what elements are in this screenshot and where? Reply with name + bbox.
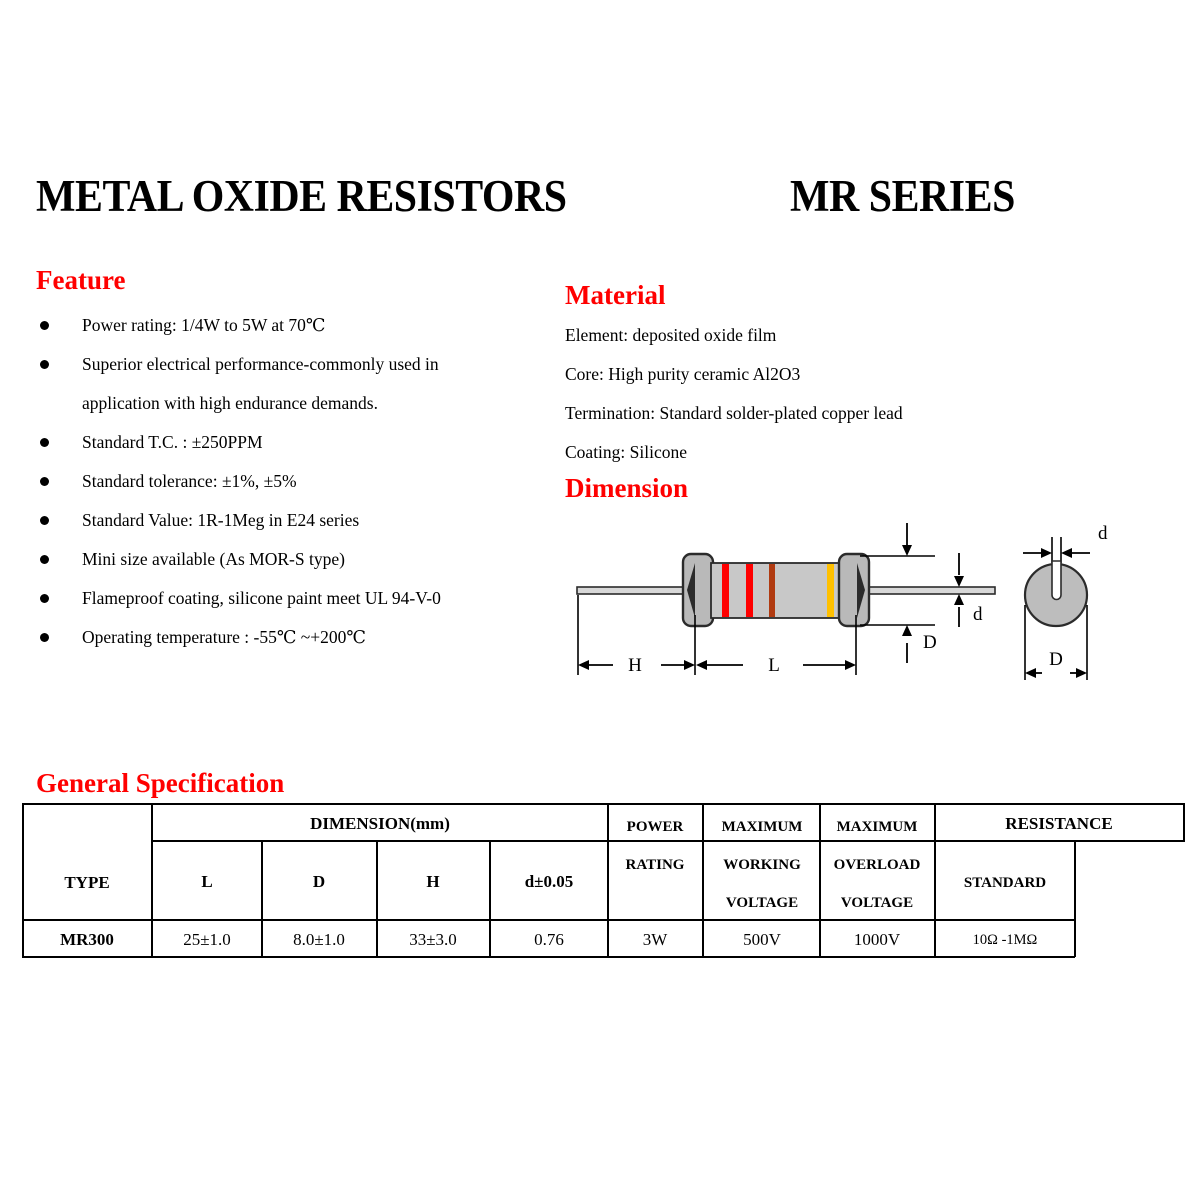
dim-label-l: L (768, 655, 780, 676)
header-type: TYPE (64, 873, 109, 892)
cell-h: 33±3.0 (409, 930, 457, 949)
cs-arrow-D-right (1076, 668, 1087, 678)
material-item: Element: deposited oxide film (565, 316, 1085, 355)
feature-item: Standard Value: 1R-1Meg in E24 series (36, 501, 536, 540)
bullet-icon (40, 555, 49, 564)
header-standard: STANDARD (964, 875, 1046, 891)
color-band-4 (827, 564, 834, 617)
cell-type: MR300 (60, 930, 114, 949)
arrow-d-small-top (954, 576, 964, 587)
color-band-1 (722, 564, 729, 617)
material-list: Element: deposited oxide film Core: High… (565, 316, 1085, 472)
arrow-d-big-bottom (902, 625, 912, 636)
header-max-overload-line2: OVERLOAD (834, 857, 921, 873)
material-item: Core: High purity ceramic Al2O3 (565, 355, 1085, 394)
dim-label-d-small: d (973, 604, 983, 625)
dimension-heading: Dimension (565, 473, 688, 504)
lead-right (860, 587, 995, 594)
bullet-icon (40, 477, 49, 486)
cs-arrow-D-left (1025, 668, 1036, 678)
cs-label-d-big: D (1049, 649, 1063, 670)
feature-item-label: Flameproof coating, silicone paint meet … (82, 579, 536, 618)
dim-label-h: H (628, 655, 642, 676)
feature-item: Superior electrical performance-commonly… (36, 345, 536, 423)
cell-l: 25±1.0 (183, 930, 231, 949)
feature-heading: Feature (36, 265, 125, 296)
cell-d: 8.0±1.0 (293, 930, 345, 949)
feature-item-label: Power rating: 1/4W to 5W at 70℃ (82, 306, 536, 345)
material-item: Termination: Standard solder-plated copp… (565, 394, 1085, 433)
feature-item: Operating temperature : -55℃ ~+200℃ (36, 618, 536, 657)
feature-item: Standard T.C. : ±250PPM (36, 423, 536, 462)
arrow-l-right (845, 660, 856, 670)
cs-arrow-d-left (1041, 548, 1052, 558)
cs-label-d-small: d (1098, 523, 1108, 544)
feature-item-label: Operating temperature : -55℃ ~+200℃ (82, 618, 536, 657)
arrow-h-left (578, 660, 589, 670)
series-title: MR SERIES (790, 170, 1015, 222)
feature-item-label: Mini size available (As MOR-S type) (82, 540, 536, 579)
header-max-overload-line1: MAXIMUM (837, 819, 918, 835)
resistor-body (711, 563, 841, 618)
bullet-icon (40, 594, 49, 603)
feature-item: Mini size available (As MOR-S type) (36, 540, 536, 579)
page-title: METAL OXIDE RESISTORS (36, 170, 567, 222)
header-resistance-group: RESISTANCE (1005, 814, 1112, 833)
feature-item-label: Standard tolerance: ±1%, ±5% (82, 462, 536, 501)
header-d-tolerance: d±0.05 (525, 872, 574, 891)
bullet-icon (40, 516, 49, 525)
dim-label-d-big: D (923, 632, 937, 653)
cs-arrow-d-right (1061, 548, 1072, 558)
cell-max-overload-voltage: 1000V (854, 930, 901, 949)
feature-list: Power rating: 1/4W to 5W at 70℃ Superior… (36, 306, 536, 657)
cell-resistance-standard: 10Ω -1MΩ (973, 932, 1038, 948)
feature-item-label: Superior electrical performance-commonly… (82, 345, 536, 423)
cell-max-working-voltage: 500V (743, 930, 782, 949)
lead-left (577, 587, 694, 594)
feature-item: Flameproof coating, silicone paint meet … (36, 579, 536, 618)
header-l: L (201, 872, 212, 891)
header-power-rating-line1: POWER (627, 819, 684, 835)
feature-item-label: Standard Value: 1R-1Meg in E24 series (82, 501, 536, 540)
material-heading: Material (565, 280, 665, 311)
header-max-working-line3: VOLTAGE (726, 895, 798, 911)
feature-item: Standard tolerance: ±1%, ±5% (36, 462, 536, 501)
cross-section-lead-slot (1052, 561, 1061, 600)
header-d: D (313, 872, 325, 891)
general-specification-table: TYPE DIMENSION(mm) L D H d±0.05 POWER RA… (22, 803, 1185, 958)
header-max-overload-line3: VOLTAGE (841, 895, 913, 911)
bullet-icon (40, 321, 49, 330)
cell-d-tolerance: 0.76 (534, 930, 564, 949)
general-specification-heading: General Specification (36, 768, 284, 799)
arrow-l-left (696, 660, 707, 670)
header-power-rating-line2: RATING (626, 857, 685, 873)
header-max-working-line2: WORKING (723, 857, 801, 873)
bullet-icon (40, 438, 49, 447)
resistor-dimension-drawing: H L D d d (555, 515, 1175, 695)
arrow-d-big-top (902, 545, 912, 556)
bullet-icon (40, 633, 49, 642)
table-row: MR300 25±1.0 8.0±1.0 33±3.0 0.76 3W 500V… (60, 930, 1037, 949)
header-h: H (426, 872, 439, 891)
header-dimension-group: DIMENSION(mm) (310, 814, 450, 833)
arrow-h-right (684, 660, 695, 670)
material-item: Coating: Silicone (565, 433, 1085, 472)
cell-power-rating: 3W (643, 930, 669, 949)
feature-item-label: Standard T.C. : ±250PPM (82, 423, 536, 462)
arrow-d-small-bottom (954, 594, 964, 605)
bullet-icon (40, 360, 49, 369)
color-band-2 (746, 564, 753, 617)
feature-item: Power rating: 1/4W to 5W at 70℃ (36, 306, 536, 345)
color-band-3 (769, 564, 775, 617)
header-max-working-line1: MAXIMUM (722, 819, 803, 835)
cross-section-view: d D (1023, 523, 1108, 680)
